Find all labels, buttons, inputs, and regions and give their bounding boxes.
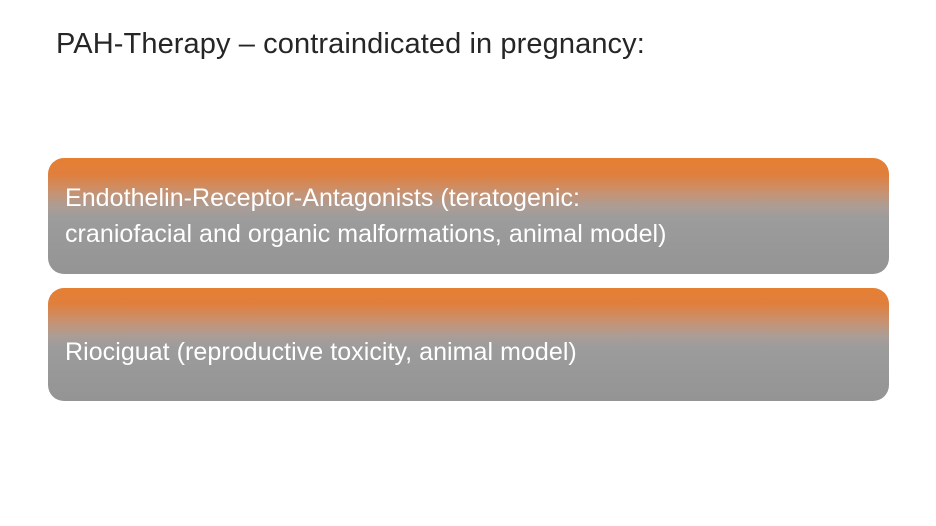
callout-box-riociguat: Riociguat (reproductive toxicity, animal… <box>48 288 889 401</box>
callout-line: craniofacial and organic malformations, … <box>65 217 872 251</box>
callout-box-endothelin-receptor-antagonists: Endothelin-Receptor-Antagonists (teratog… <box>48 158 889 274</box>
callout-line: Riociguat (reproductive toxicity, animal… <box>65 335 872 369</box>
slide-canvas: PAH-Therapy – contraindicated in pregnan… <box>0 0 936 526</box>
page-title: PAH-Therapy – contraindicated in pregnan… <box>56 26 876 62</box>
callout-line: Endothelin-Receptor-Antagonists (teratog… <box>65 181 872 215</box>
